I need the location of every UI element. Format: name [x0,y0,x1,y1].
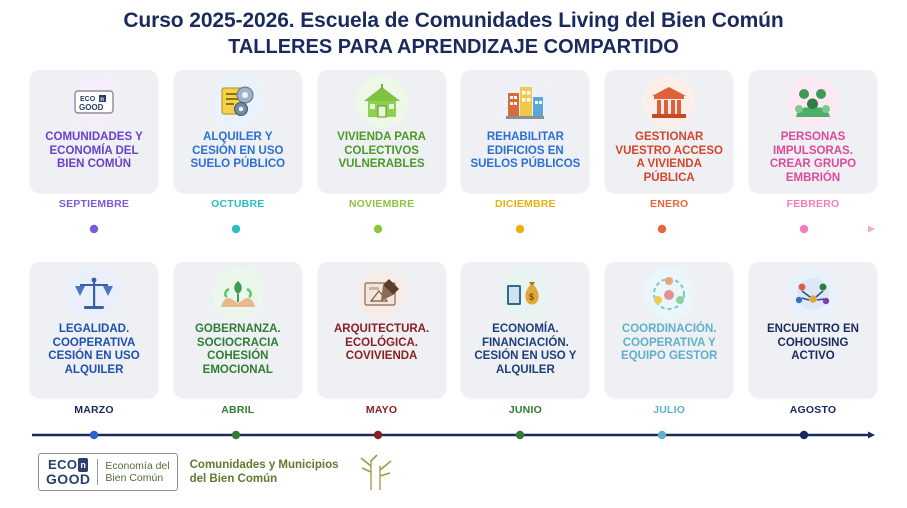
government-building-icon [643,76,695,128]
green-house-icon [356,76,408,128]
top-card-row: ECO n GOOD COMUNIDADES Y ECONOMÍA DEL BI… [30,70,877,192]
money-bag-book-icon: $ [499,268,551,320]
month-julio: JULIO [605,404,733,416]
title-line-1: Curso 2025-2026. Escuela de Comunidades … [0,8,907,34]
card-legalidad-cooperativa[interactable]: LEGALIDAD. COOPERATIVA CESIÓN EN USO ALQ… [30,262,158,397]
month-noviembre: NOVIEMBRE [318,198,446,210]
month-junio: JUNIO [461,404,589,416]
bamboo-plant-icon [353,452,399,492]
title-line-2: TALLERES PARA APRENDIZAJE COMPARTIDO [0,34,907,60]
gears-documents-icon [212,76,264,128]
card-alquiler-cesion[interactable]: ALQUILER Y CESIÓN EN USO SUELO PÚBLICO [174,70,302,192]
card-rehabilitar-edificios[interactable]: REHABILITAR EDIFICIOS EN SUELOS PÚBLICOS [461,70,589,192]
econgood-footer-logo: ECOn GOOD Economía del Bien Común [38,453,178,491]
month-diciembre: DICIEMBRE [461,198,589,210]
card-economia-financiacion[interactable]: $ ECONOMÍA. FINANCIACIÓN. CESIÓN EN USO … [461,262,589,397]
month-mayo: MAYO [318,404,446,416]
month-agosto: AGOSTO [749,404,877,416]
footer: ECOn GOOD Economía del Bien Común Comuni… [38,452,399,492]
footer-tagline-line-1: Comunidades y Municipios [190,458,339,472]
econgood-logo-icon: ECO n GOOD [68,76,120,128]
infographic-page: Curso 2025-2026. Escuela de Comunidades … [0,0,907,508]
timeline-bottom-months: MARZO ABRIL MAYO JUNIO JULIO AGOSTO [30,404,877,416]
card-label: REHABILITAR EDIFICIOS EN SUELOS PÚBLICOS [465,131,585,172]
svg-text:ECO: ECO [80,96,96,103]
teamwork-circle-icon [643,268,695,320]
month-abril: ABRIL [174,404,302,416]
card-label: ARQUITECTURA. ECOLÓGICA. COVIVIENDA [322,323,442,364]
card-label: VIVIENDA PARA COLECTIVOS VULNERABLES [322,131,442,172]
card-personas-impulsoras[interactable]: PERSONAS IMPULSORAS. CREAR GRUPO EMBRIÓN [749,70,877,192]
logo-n-badge: n [78,458,88,472]
timeline-bottom-axis [30,430,877,438]
card-gestionar-acceso[interactable]: GESTIONAR VUESTRO ACCESO A VIVIENDA PÚBL… [605,70,733,192]
timeline-top-months: SEPTIEMBRE OCTUBRE NOVIEMBRE DICIEMBRE E… [30,198,877,210]
month-febrero: FEBRERO [749,198,877,210]
timeline-top: SEPTIEMBRE OCTUBRE NOVIEMBRE DICIEMBRE E… [30,198,877,232]
card-label: GOBERNANZA. SOCIOCRACIA COHESIÓN EMOCION… [178,323,298,377]
logo-subtitle: Economía del Bien Común [98,454,176,490]
month-octubre: OCTUBRE [174,198,302,210]
svg-text:GOOD: GOOD [79,103,104,112]
card-label: GESTIONAR VUESTRO ACCESO A VIVIENDA PÚBL… [609,131,729,185]
buildings-renovation-icon [499,76,551,128]
month-enero: ENERO [605,198,733,210]
logo-subtitle-line-1: Economía del [105,460,169,472]
footer-tagline: Comunidades y Municipios del Bien Común [190,458,339,486]
card-label: LEGALIDAD. COOPERATIVA CESIÓN EN USO ALQ… [34,323,154,377]
logo-eco-text: ECOn [48,458,88,472]
people-celebrate-icon [787,268,839,320]
month-marzo: MARZO [30,404,158,416]
scales-justice-icon [68,268,120,320]
timeline-top-axis [30,224,877,232]
people-group-pink-icon [787,76,839,128]
footer-tagline-line-2: del Bien Común [190,472,339,486]
card-label: COORDINACIÓN. COOPERATIVA Y EQUIPO GESTO… [609,323,729,364]
card-label: ALQUILER Y CESIÓN EN USO SUELO PÚBLICO [178,131,298,172]
logo-subtitle-line-2: Bien Común [105,472,169,484]
card-comunidades-economia[interactable]: ECO n GOOD COMUNIDADES Y ECONOMÍA DEL BI… [30,70,158,192]
hands-plant-icon [212,268,264,320]
bottom-card-row: LEGALIDAD. COOPERATIVA CESIÓN EN USO ALQ… [30,262,877,397]
card-vivienda-colectivos[interactable]: VIVIENDA PARA COLECTIVOS VULNERABLES [318,70,446,192]
blueprint-drafting-icon [356,268,408,320]
page-title: Curso 2025-2026. Escuela de Comunidades … [0,8,907,60]
timeline-bottom: MARZO ABRIL MAYO JUNIO JULIO AGOSTO [30,404,877,438]
card-arquitectura-ecologica[interactable]: ARQUITECTURA. ECOLÓGICA. COVIVIENDA [318,262,446,397]
card-gobernanza-sociocracia[interactable]: GOBERNANZA. SOCIOCRACIA COHESIÓN EMOCION… [174,262,302,397]
card-encuentro-cohousing[interactable]: ENCUENTRO EN COHOUSING ACTIVO [749,262,877,397]
svg-text:$: $ [529,292,534,302]
card-coordinacion-cooperativa[interactable]: COORDINACIÓN. COOPERATIVA Y EQUIPO GESTO… [605,262,733,397]
card-label: ENCUENTRO EN COHOUSING ACTIVO [753,323,873,364]
month-septiembre: SEPTIEMBRE [30,198,158,210]
card-label: COMUNIDADES Y ECONOMÍA DEL BIEN COMÚN [34,131,154,172]
card-label: PERSONAS IMPULSORAS. CREAR GRUPO EMBRIÓN [753,131,873,185]
card-label: ECONOMÍA. FINANCIACIÓN. CESIÓN EN USO Y … [465,323,585,377]
logo-good-text: GOOD [46,472,90,486]
logo-wordmark: ECOn GOOD [39,454,97,490]
